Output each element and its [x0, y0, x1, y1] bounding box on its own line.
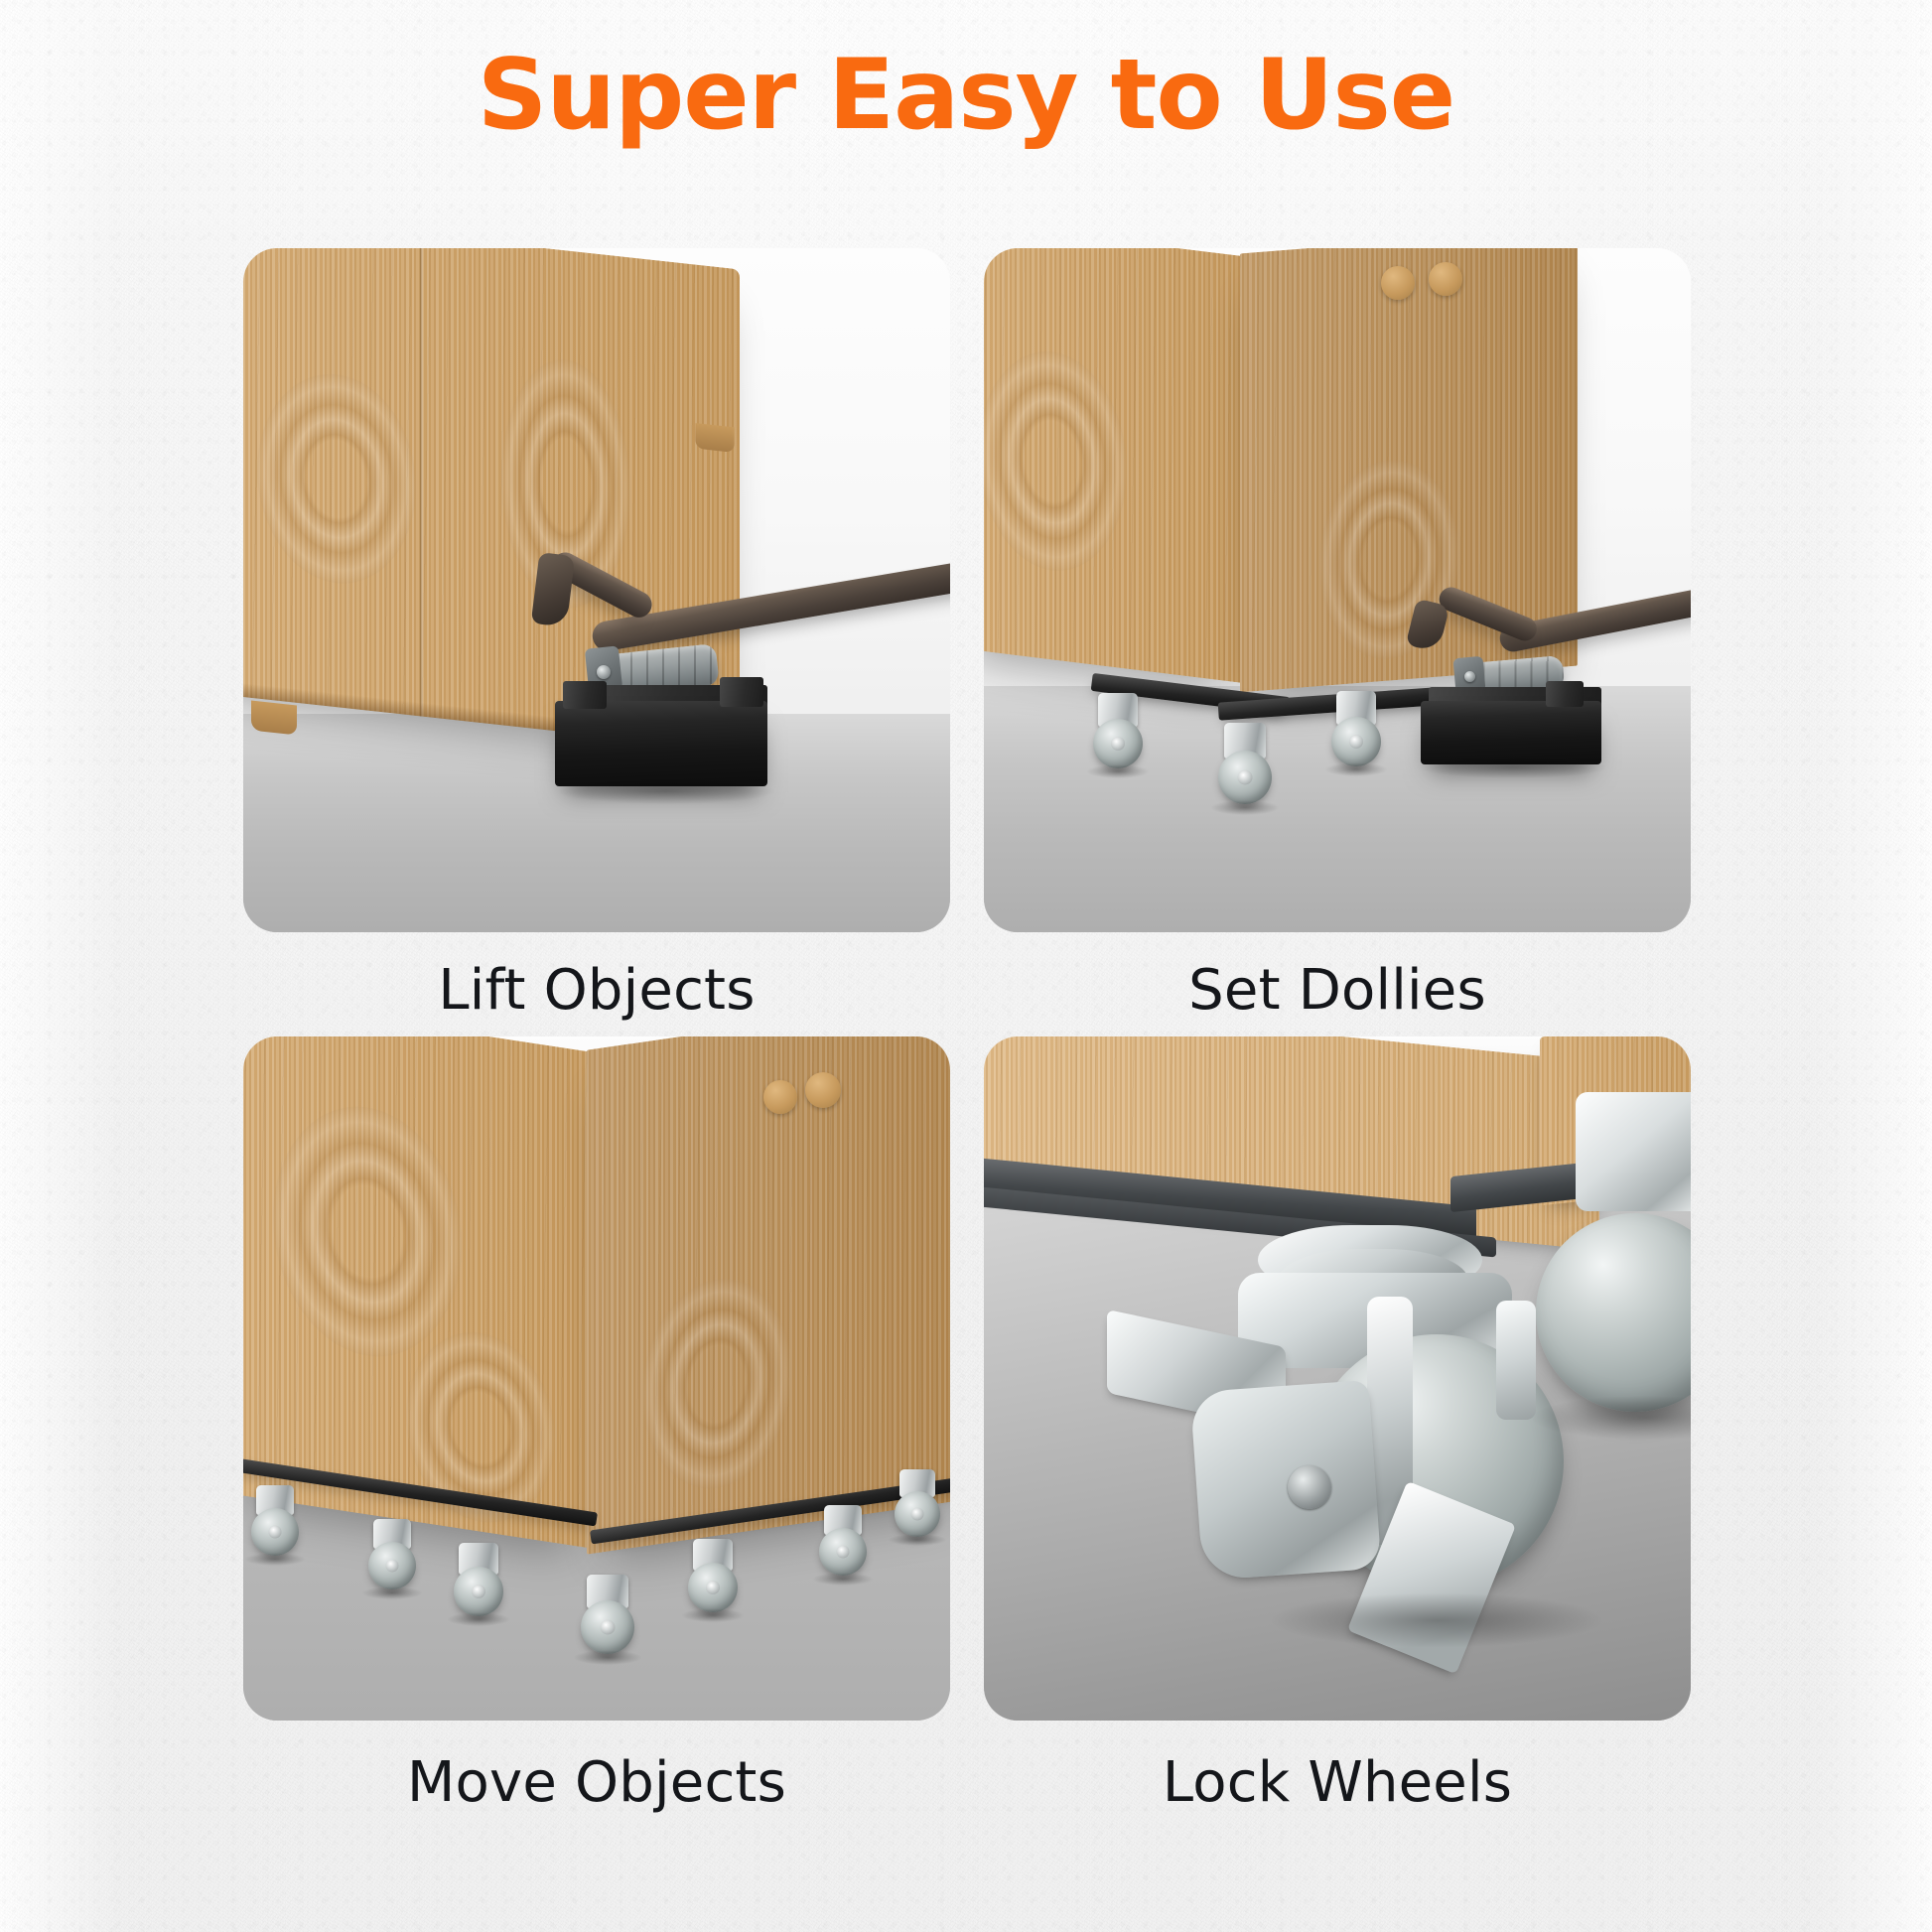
cabinet-foot	[984, 248, 1020, 275]
page-title: Super Easy to Use	[0, 44, 1932, 149]
caster-hub	[472, 1585, 485, 1598]
caster-hub	[1349, 735, 1363, 749]
caster-wheel	[448, 1543, 509, 1632]
caster-wheel	[813, 1505, 873, 1592]
caster-hub	[837, 1546, 850, 1559]
caster-hub	[706, 1581, 720, 1594]
step-card-move-objects: Move Objects	[243, 1036, 950, 1815]
lifter-roller-pin	[1464, 671, 1475, 682]
caster-wheel	[682, 1539, 744, 1628]
caster-wheel	[889, 1469, 946, 1553]
wooden-cabinet-left-face	[984, 248, 1246, 683]
contact-shadow	[1210, 800, 1280, 815]
caster-hub	[269, 1526, 282, 1539]
contact-shadow	[361, 1587, 423, 1599]
caster-hub	[1238, 770, 1253, 785]
caster-hub	[911, 1508, 924, 1521]
caster-wheel	[362, 1519, 422, 1606]
caster-wheel	[245, 1485, 305, 1571]
contact-shadow	[244, 1553, 306, 1566]
cabinet-knob	[1429, 262, 1462, 296]
contact-shadow	[681, 1608, 745, 1622]
caster-wheel	[1212, 723, 1278, 818]
caster-wheel	[1325, 691, 1387, 780]
background-caster-yoke	[1576, 1092, 1691, 1211]
step-image-set-dollies	[984, 248, 1691, 932]
fulcrum-block-lug	[563, 681, 607, 709]
fulcrum-block	[1421, 701, 1601, 764]
wood-knot	[273, 1093, 462, 1370]
fulcrum-block-lug	[720, 677, 763, 707]
steps-grid: Lift Objects	[243, 248, 1691, 1815]
cabinet-door-seam	[1240, 248, 1578, 253]
contact-shadow	[888, 1534, 947, 1546]
caster-fork-arm	[1496, 1301, 1536, 1420]
lifter-roller-pin	[597, 665, 611, 679]
contact-shadow	[573, 1650, 642, 1665]
contact-shadow	[559, 778, 773, 804]
contact-shadow	[1421, 757, 1605, 778]
caster-hub	[1111, 737, 1125, 751]
infographic-page: Super Easy to Use	[0, 0, 1932, 1932]
cabinet-knob	[1381, 266, 1415, 300]
cabinet-door-seam	[420, 248, 423, 717]
step-card-lift-objects: Lift Objects	[243, 248, 950, 1023]
step-caption: Set Dollies	[984, 932, 1691, 1023]
fulcrum-block-lug	[1546, 681, 1584, 707]
cabinet-foot	[695, 423, 734, 453]
brake-lever-body	[1190, 1380, 1382, 1581]
contact-shadow	[1324, 762, 1388, 776]
step-caption: Move Objects	[243, 1721, 950, 1815]
step-caption: Lock Wheels	[984, 1721, 1691, 1815]
contact-shadow	[1086, 764, 1150, 778]
cabinet-knob	[805, 1072, 841, 1108]
caster-wheel	[575, 1575, 640, 1670]
wood-knot	[984, 343, 1127, 579]
fulcrum-block	[555, 701, 767, 786]
contact-shadow	[447, 1612, 510, 1626]
caster-hub	[601, 1620, 616, 1635]
step-image-lift-objects	[243, 248, 950, 932]
caster-hub	[386, 1560, 399, 1573]
cabinet-foot	[251, 701, 297, 736]
wood-knot	[257, 366, 416, 592]
cabinet-knob	[763, 1080, 797, 1114]
step-image-lock-wheels	[984, 1036, 1691, 1721]
step-card-set-dollies: Set Dollies	[984, 248, 1691, 1023]
wood-knot	[642, 1269, 791, 1499]
brake-pivot-rivet	[1288, 1465, 1331, 1509]
contact-shadow	[1268, 1592, 1605, 1648]
step-caption: Lift Objects	[243, 932, 950, 1023]
step-card-lock-wheels: Lock Wheels	[984, 1036, 1691, 1815]
caster-wheel	[1087, 693, 1149, 780]
step-image-move-objects	[243, 1036, 950, 1721]
contact-shadow	[812, 1573, 874, 1586]
